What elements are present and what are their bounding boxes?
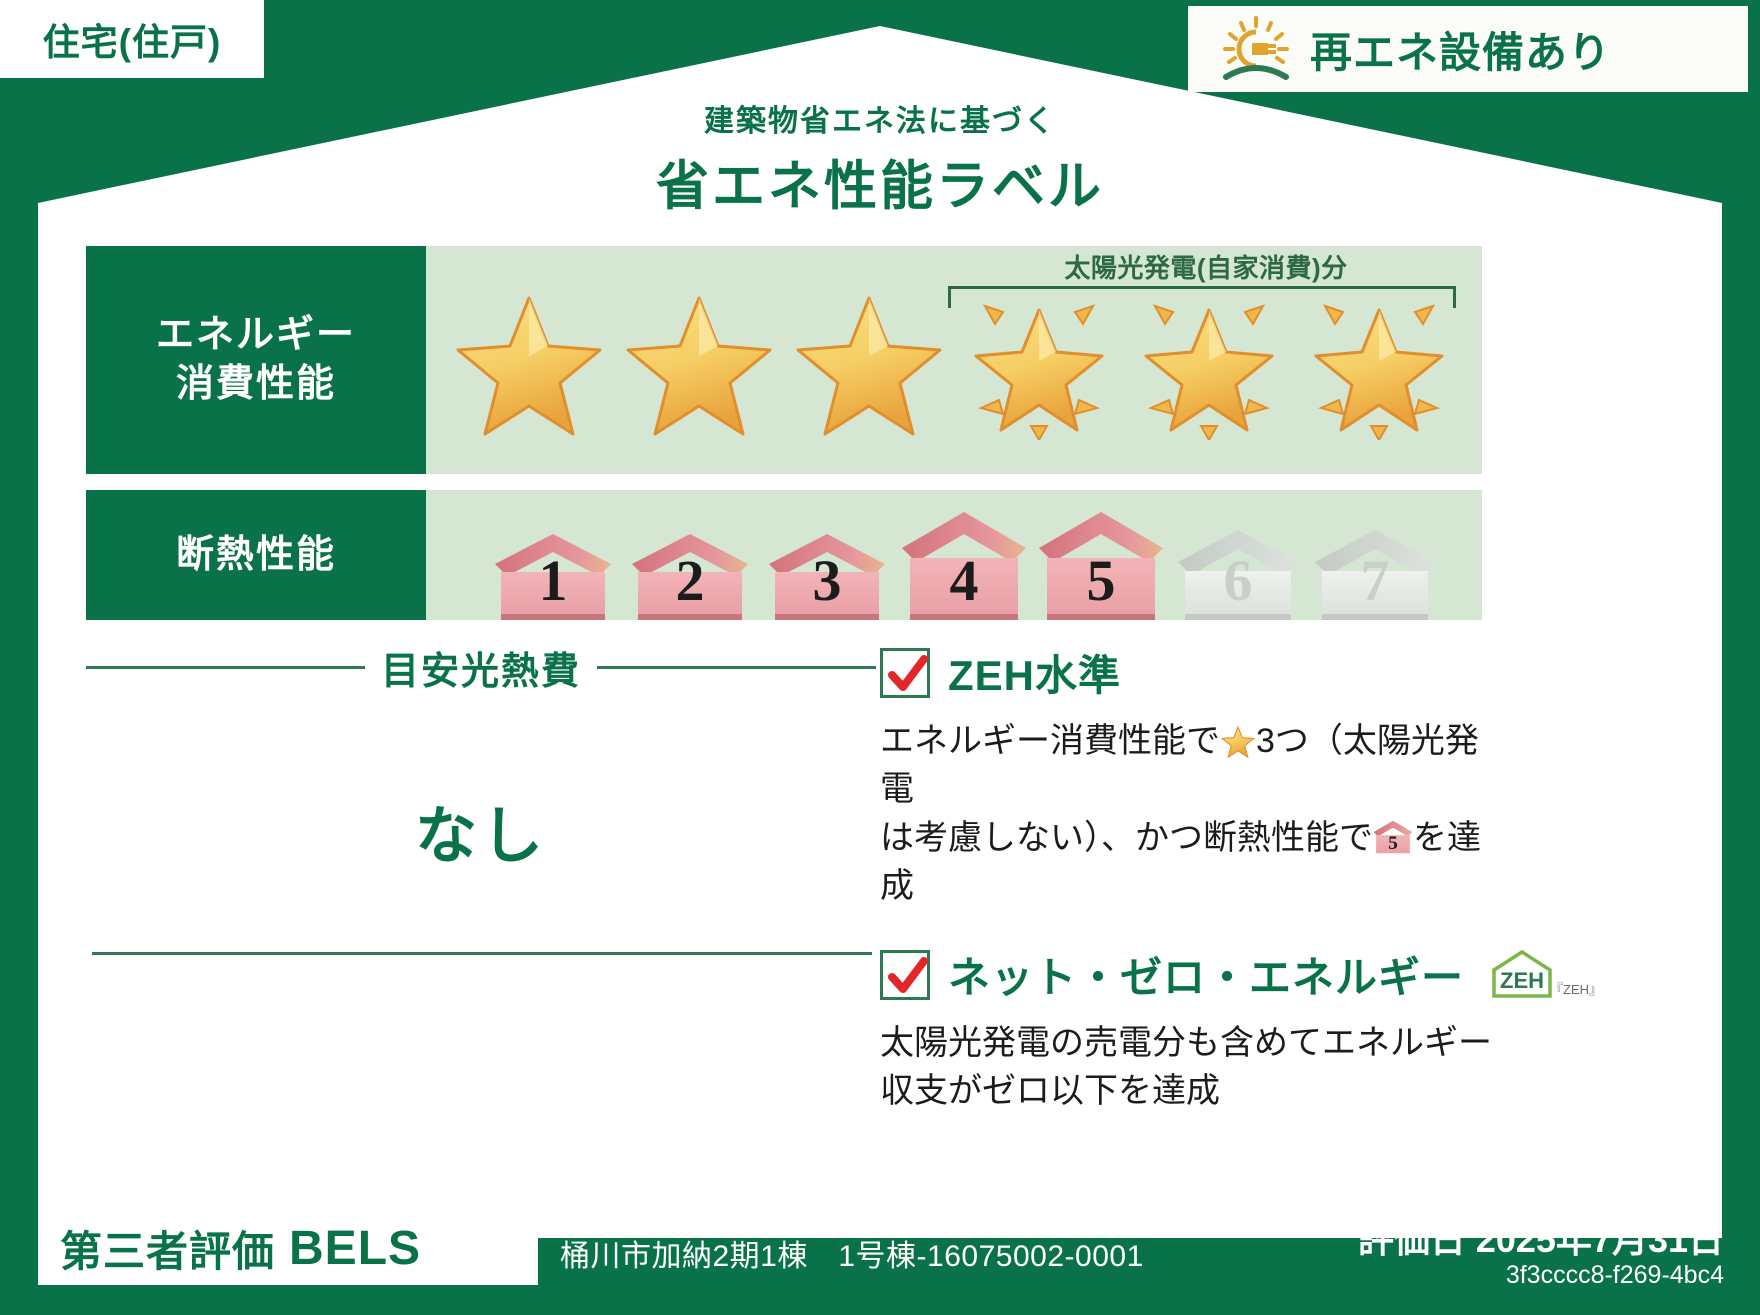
property-name: 桶川市加納2期1棟 1号棟-16075002-0001 [560,1231,1144,1275]
heading-rule-left [86,666,365,669]
zeh-desc-part-3: は考慮しない）、かつ断熱性能で [880,819,1373,857]
insulation-grade-number: 7 [1310,547,1441,614]
check-icon [887,955,929,999]
net-zero-group: ネット・ゼロ・エネルギー ZEH 『ZEH』 太陽光発電の売電分も含めてエネルギ… [880,944,1500,1116]
insulation-performance-row: 断熱性能 [86,490,1482,620]
insulation-grade-3: 3 [762,528,893,620]
insulation-grade-4: 4 [899,508,1030,620]
star-icon [1220,724,1256,758]
insulation-grade-6: 6 [1173,524,1304,620]
zeh-desc-part-1: エネルギー消費性能で [880,722,1220,760]
star-icon [789,280,949,440]
insulation-grade-number: 3 [762,547,893,614]
net-zero-heading: ネット・ゼロ・エネルギー ZEH 『ZEH』 [880,944,1500,1005]
star-icon [619,280,779,440]
heading-rule-right [597,666,876,669]
svg-text:5: 5 [1388,833,1398,854]
energy-performance-row: エネルギー 消費性能 太陽光発電(自家消費)分 [86,246,1482,474]
label-footer: 第三者評価 BELS 桶川市加納2期1棟 1号棟-16075002-0001 評… [0,1205,1760,1315]
insulation-grade-number: 2 [625,547,756,614]
insulation-grade-1: 1 [488,528,619,620]
utility-cost-heading: 目安光熱費 [86,640,876,695]
check-icon [887,653,929,697]
insulation-grade-5: 5 [1036,508,1167,620]
solar-plug-icon [1216,15,1296,83]
insulation-performance-label: 断熱性能 [86,490,426,620]
zeh-standard-heading: ZEH水準 [880,642,1500,703]
svg-text:ZEH: ZEH [1500,968,1544,993]
star-icon [449,280,609,440]
evaluation-id: 3f3cccc8-f269-4bc4 [1506,1261,1724,1290]
solar-bracket [948,286,1456,308]
net-zero-desc-line2: 収支がゼロ以下を達成 [880,1072,1220,1110]
renewable-equipment-text: 再エネ設備あり [1310,19,1611,80]
net-zero-description: 太陽光発電の売電分も含めてエネルギー 収支がゼロ以下を達成 [880,1019,1500,1116]
building-type-chip: 住宅(住戸) [0,0,264,78]
bels-badge: 第三者評価 BELS [38,1211,538,1285]
bels-mark-text: BELS [289,1221,421,1276]
renewable-equipment-chip: 再エネ設備あり [1188,6,1748,92]
building-type-text: 住宅(住戸) [43,12,222,66]
evaluation-date: 評価日 2025年7月31日 [1358,1211,1724,1263]
net-zero-title: ネット・ゼロ・エネルギー [948,944,1464,1005]
zeh-section: ZEH水準 エネルギー消費性能で3つ（太陽光発電 は考慮しない）、かつ断熱性能で… [880,642,1500,1116]
insulation-grade-group: 1 2 3 [426,490,1482,620]
zeh-logo-icon: ZEH 『ZEH』 [1488,948,1600,1002]
insulation-grade-number: 4 [899,547,1030,614]
net-zero-checkbox[interactable] [880,950,930,1000]
label-title-block: 建築物省エネ法に基づく 省エネ性能ラベル [0,96,1760,220]
energy-performance-value-panel: 太陽光発電(自家消費)分 [426,246,1482,474]
insulation-label-text: 断熱性能 [176,531,336,580]
energy-label-line1: エネルギー [156,311,356,360]
insulation-grade-number: 5 [1036,547,1167,614]
bels-energy-label: 住宅(住戸) 再エネ設備あり 建築物省エネ法に基づく 省 [0,0,1760,1315]
bels-prefix-text: 第三者評価 [60,1218,275,1279]
utility-cost-section: 目安光熱費 なし [86,640,876,875]
svg-text:『ZEH』: 『ZEH』 [1550,982,1600,997]
utility-cost-heading-text: 目安光熱費 [381,640,581,695]
insulation-performance-value-panel: 1 2 3 [426,490,1482,620]
house-grade-icon: 5 [1373,817,1413,857]
net-zero-desc-line1: 太陽光発電の売電分も含めてエネルギー [880,1024,1492,1062]
energy-performance-label: エネルギー 消費性能 [86,246,426,474]
utility-cost-bottom-rule [92,952,872,955]
utility-cost-value: なし [86,785,876,875]
insulation-grade-number: 1 [488,547,619,614]
zeh-standard-description: エネルギー消費性能で3つ（太陽光発電 は考慮しない）、かつ断熱性能で5を達成 [880,717,1500,910]
energy-label-line2: 消費性能 [176,360,336,409]
insulation-grade-2: 2 [625,528,756,620]
title-subtitle: 建築物省エネ法に基づく [0,96,1760,140]
zeh-standard-title: ZEH水準 [948,642,1121,703]
zeh-standard-checkbox[interactable] [880,648,930,698]
title-main: 省エネ性能ラベル [0,144,1760,220]
insulation-grade-7: 7 [1310,524,1441,620]
solar-bracket-caption: 太陽光発電(自家消費)分 [926,248,1486,285]
insulation-grade-number: 6 [1173,547,1304,614]
